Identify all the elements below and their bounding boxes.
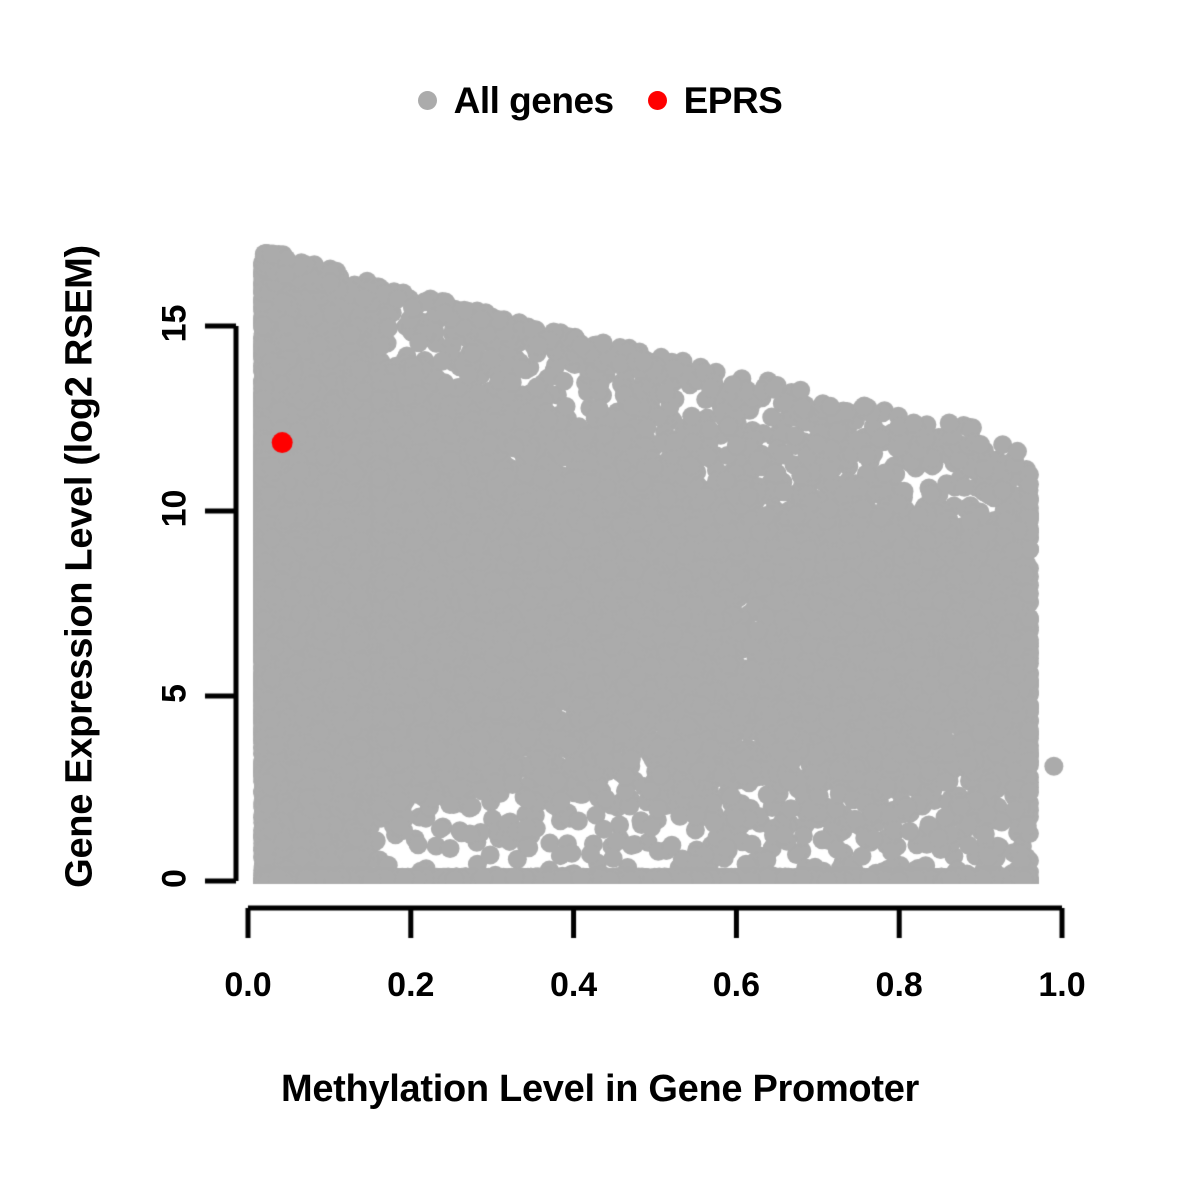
y-tick-label: 10	[156, 449, 195, 569]
legend-item-all-genes[interactable]: All genes	[418, 82, 614, 119]
scatter-plot-figure: All genes EPRS Methylation Level in Gene…	[0, 0, 1200, 1200]
chart-legend: All genes EPRS	[0, 82, 1200, 119]
legend-marker-eprs-icon	[648, 91, 667, 110]
legend-label-eprs: EPRS	[684, 82, 783, 119]
x-tick-label: 0.6	[676, 966, 796, 1005]
x-tick-label: 0.8	[839, 966, 959, 1005]
x-tick-label: 0.2	[351, 966, 471, 1005]
x-tick-label: 1.0	[1002, 966, 1122, 1005]
x-axis-title: Methylation Level in Gene Promoter	[0, 1068, 1200, 1111]
legend-item-eprs[interactable]: EPRS	[648, 82, 783, 119]
x-tick-label: 0.4	[514, 966, 634, 1005]
scatter-plot-canvas	[0, 0, 1200, 1200]
y-tick-label: 0	[156, 819, 195, 939]
legend-marker-all-genes-icon	[418, 91, 437, 110]
y-tick-label: 5	[156, 634, 195, 754]
x-tick-label: 0.0	[188, 966, 308, 1005]
y-tick-label: 15	[156, 264, 195, 384]
legend-label-all-genes: All genes	[454, 82, 614, 119]
